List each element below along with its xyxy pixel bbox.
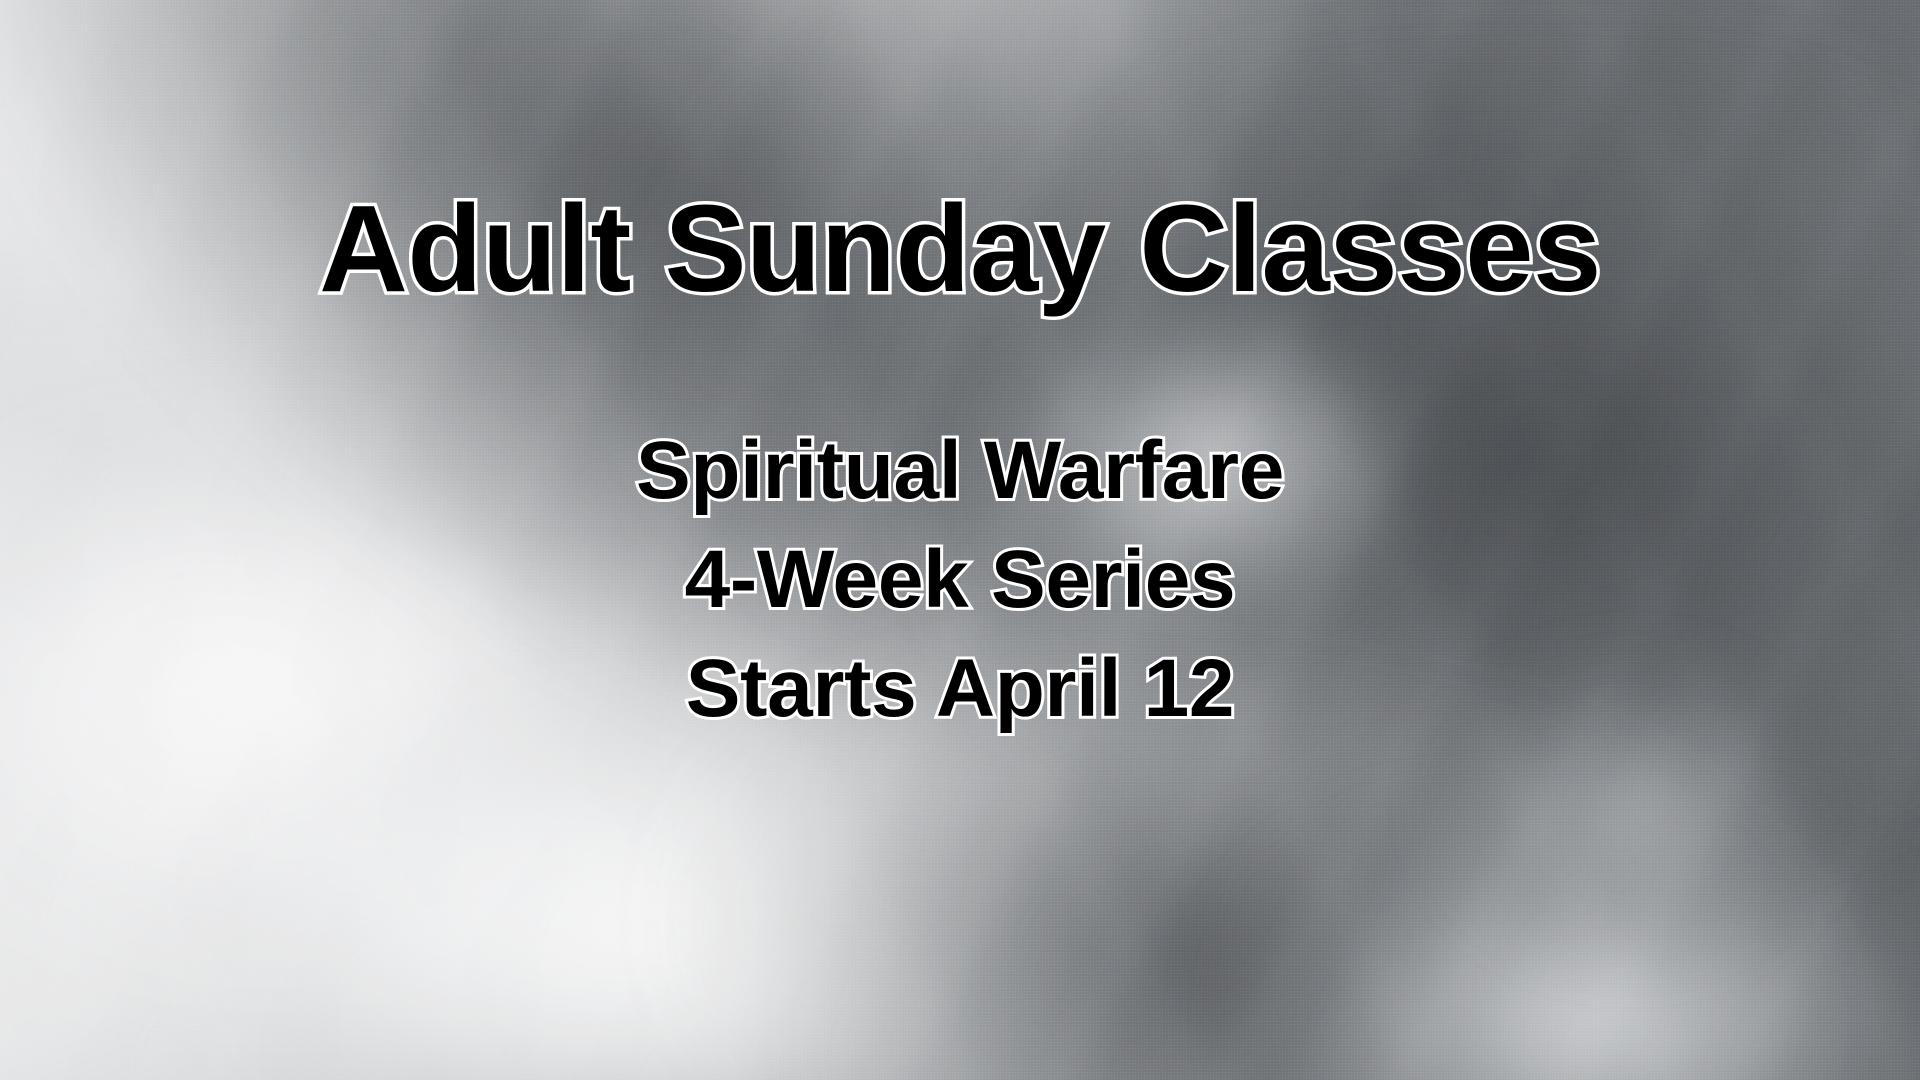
subtitle-line-start-date: Starts April 12	[686, 641, 1234, 736]
subtitle-line-duration: 4-Week Series	[685, 532, 1236, 627]
poster-text-layer: Adult Sunday Classes Spiritual Warfare 4…	[0, 0, 1920, 1080]
subtitle-line-topic: Spiritual Warfare	[636, 423, 1284, 518]
poster-subtitle-block: Spiritual Warfare 4-Week Series Starts A…	[636, 423, 1284, 736]
poster-headline: Adult Sunday Classes	[319, 188, 1601, 311]
cloud-poster: Adult Sunday Classes Spiritual Warfare 4…	[0, 0, 1920, 1080]
